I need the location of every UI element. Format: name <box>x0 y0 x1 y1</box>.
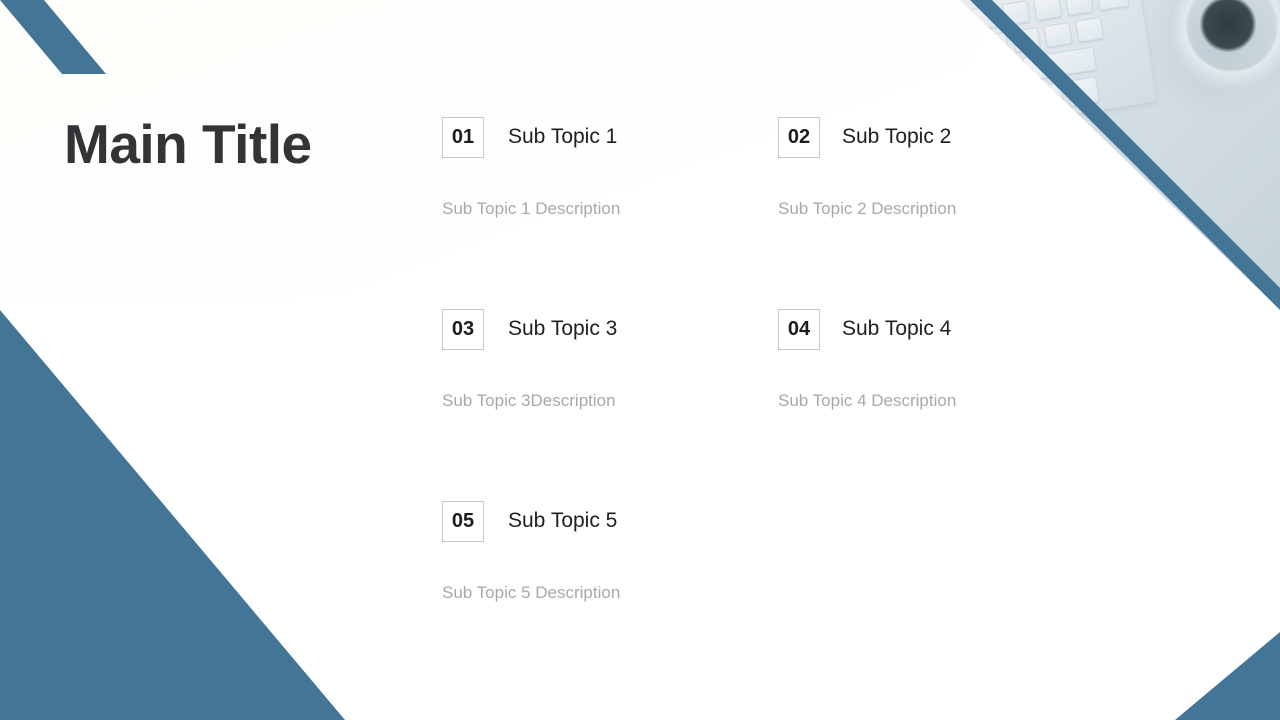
sub-topic-item-3[interactable]: 03 Sub Topic 3 Sub Topic 3Description <box>442 309 742 411</box>
sub-topic-title-4: Sub Topic 4 <box>842 317 951 341</box>
sub-topic-header-4: 04 Sub Topic 4 <box>778 309 1078 349</box>
sub-topic-description-2: Sub Topic 2 Description <box>778 199 1078 219</box>
sub-topic-number-badge-4: 04 <box>778 309 820 350</box>
sub-topic-header-3: 03 Sub Topic 3 <box>442 309 742 349</box>
sub-topic-item-4[interactable]: 04 Sub Topic 4 Sub Topic 4 Description <box>778 309 1078 411</box>
sub-topic-title-3: Sub Topic 3 <box>508 317 617 341</box>
sub-topic-title-2: Sub Topic 2 <box>842 125 951 149</box>
bottom-left-triangle-shape <box>0 300 360 720</box>
sub-topic-header-1: 01 Sub Topic 1 <box>442 117 742 157</box>
sub-topic-number-badge-2: 02 <box>778 117 820 158</box>
topic-row-1: 01 Sub Topic 1 Sub Topic 1 Description 0… <box>442 117 1062 309</box>
sub-topic-header-5: 05 Sub Topic 5 <box>442 501 742 541</box>
top-left-diagonal-stripe-icon <box>0 0 120 90</box>
sub-topic-number-badge-5: 05 <box>442 501 484 542</box>
sub-topic-item-2[interactable]: 02 Sub Topic 2 Sub Topic 2 Description <box>778 117 1078 219</box>
sub-topic-number-badge-1: 01 <box>442 117 484 158</box>
sub-topic-description-3: Sub Topic 3Description <box>442 391 742 411</box>
sub-topic-item-1[interactable]: 01 Sub Topic 1 Sub Topic 1 Description <box>442 117 742 219</box>
page-title: Main Title <box>64 114 312 175</box>
presentation-slide: Main Title 01 Sub Topic 1 Sub Topic 1 De… <box>0 0 1280 720</box>
sub-topic-item-5[interactable]: 05 Sub Topic 5 Sub Topic 5 Description <box>442 501 742 603</box>
sub-topic-title-5: Sub Topic 5 <box>508 509 617 533</box>
topic-row-3: 05 Sub Topic 5 Sub Topic 5 Description <box>442 501 1062 693</box>
sub-topic-title-1: Sub Topic 1 <box>508 125 617 149</box>
sub-topics-grid: 01 Sub Topic 1 Sub Topic 1 Description 0… <box>442 117 1062 693</box>
sub-topic-number-badge-3: 03 <box>442 309 484 350</box>
sub-topic-description-4: Sub Topic 4 Description <box>778 391 1078 411</box>
sub-topic-header-2: 02 Sub Topic 2 <box>778 117 1078 157</box>
bottom-right-triangle-shape <box>1110 610 1280 720</box>
sub-topic-description-1: Sub Topic 1 Description <box>442 199 742 219</box>
topic-row-2: 03 Sub Topic 3 Sub Topic 3Description 04… <box>442 309 1062 501</box>
sub-topic-description-5: Sub Topic 5 Description <box>442 583 742 603</box>
